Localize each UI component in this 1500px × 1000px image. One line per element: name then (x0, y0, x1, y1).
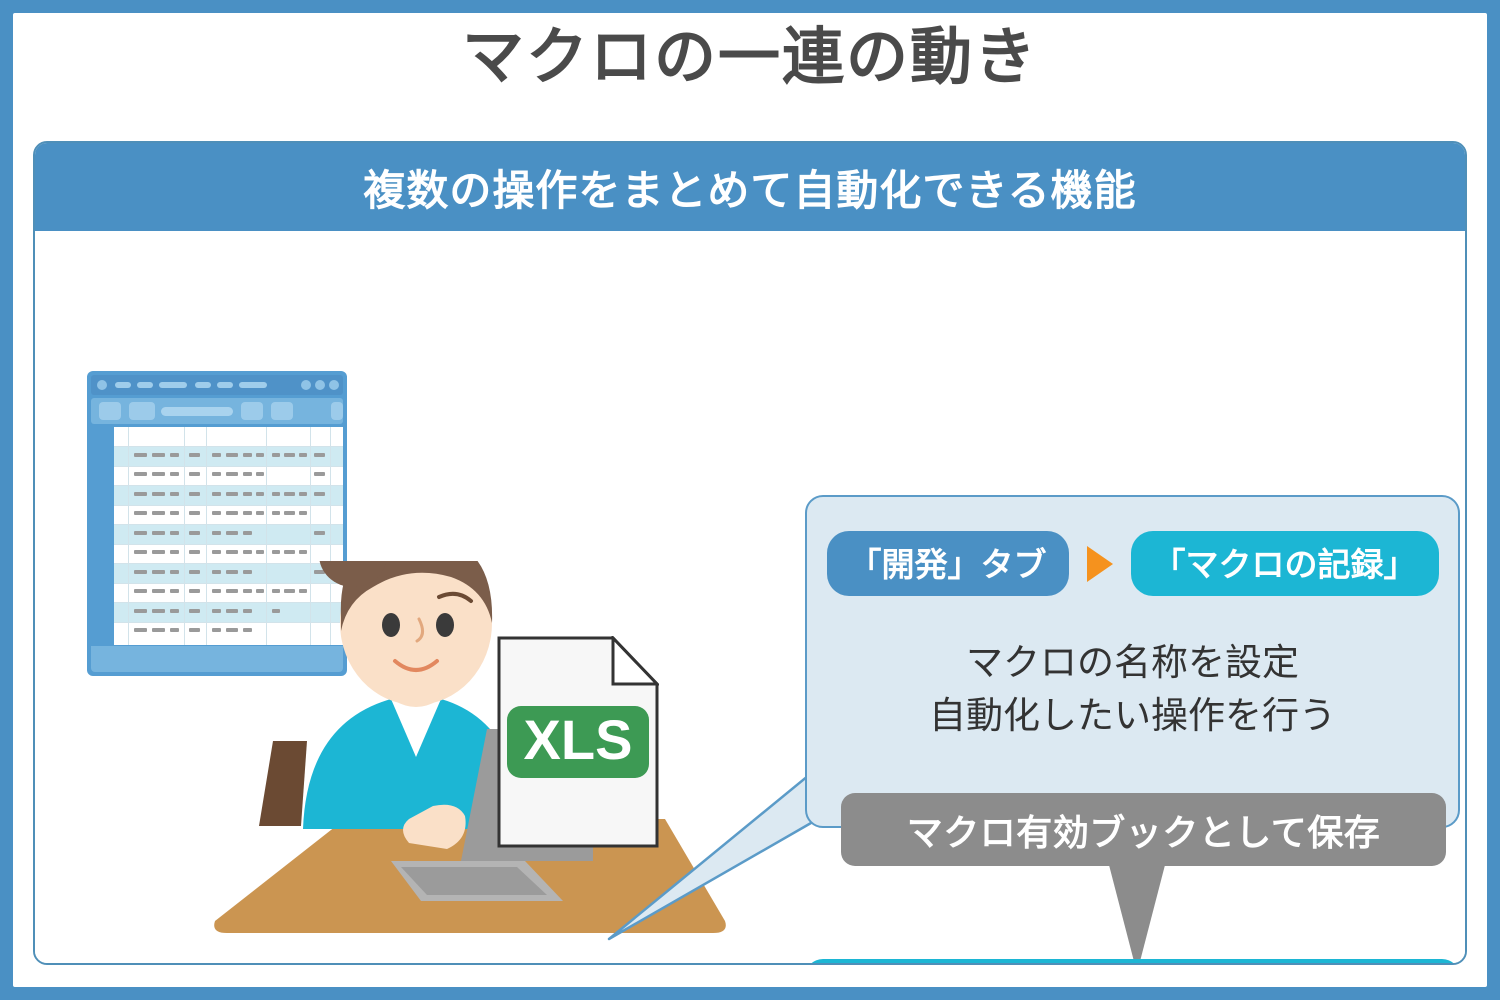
step1-pill-row: 「開発」タブ 「マクロの記録」 (807, 531, 1458, 596)
menu-item-bar (239, 382, 267, 388)
step1-description: マクロの名称を設定 自動化したい操作を行う (807, 637, 1458, 742)
infographic-page: マクロの一連の動き 複数の操作をまとめて自動化できる機能 (0, 0, 1500, 1000)
pill-developer-tab[interactable]: 「開発」タブ (827, 531, 1069, 596)
window-dot-icon (97, 380, 107, 390)
toolbar-button (271, 402, 293, 420)
step1-line-2: 自動化したい操作を行う (807, 690, 1458, 743)
menu-item-bar (159, 382, 187, 388)
toolbar-button (99, 402, 121, 420)
window-maximize-icon (315, 380, 325, 390)
step2-gray-banner: マクロ有効ブックとして保存 (841, 793, 1446, 866)
toolbar-button (331, 402, 343, 420)
eye-right (436, 613, 454, 637)
menu-item-bar (115, 382, 131, 388)
window-minimize-icon (301, 380, 311, 390)
menu-item-bar (137, 382, 153, 388)
triangle-right-icon (1087, 546, 1113, 582)
eye-left (382, 613, 400, 637)
card-body: XLS 「開発」タブ 「マクロの記録」 マクロの名称を設定 自動化したい操作を行… (35, 231, 1465, 963)
window-close-icon (329, 380, 339, 390)
card-header-text: 複数の操作をまとめて自動化できる機能 (363, 157, 1136, 218)
pill-record-macro[interactable]: 「マクロの記録」 (1131, 531, 1439, 596)
toolbar-button (241, 402, 263, 420)
card-header: 複数の操作をまとめて自動化できる機能 (35, 143, 1465, 231)
gray-banner-tail-icon (1109, 865, 1165, 965)
window-titlebar (91, 375, 343, 395)
menu-item-bar (217, 382, 233, 388)
step2-banner-text: マクロ有効ブックとして保存 (907, 804, 1380, 856)
chair-back (259, 741, 307, 826)
file-folded-corner (613, 638, 657, 684)
menu-item-bar (195, 382, 211, 388)
step3-cyan-box: 保存したマクロは 「マクロの表示」から呼び出し 実行したり編集したりできる (805, 959, 1460, 965)
content-card: 複数の操作をまとめて自動化できる機能 (33, 141, 1467, 965)
page-title: マクロの一連の動き (0, 24, 1500, 92)
toolbar-button (129, 402, 155, 420)
step1-line-1: マクロの名称を設定 (807, 637, 1458, 690)
window-toolbar (91, 398, 343, 424)
toolbar-search-bar (161, 407, 233, 416)
step1-speech-bubble: 「開発」タブ 「マクロの記録」 マクロの名称を設定 自動化したい操作を行う (805, 495, 1460, 828)
